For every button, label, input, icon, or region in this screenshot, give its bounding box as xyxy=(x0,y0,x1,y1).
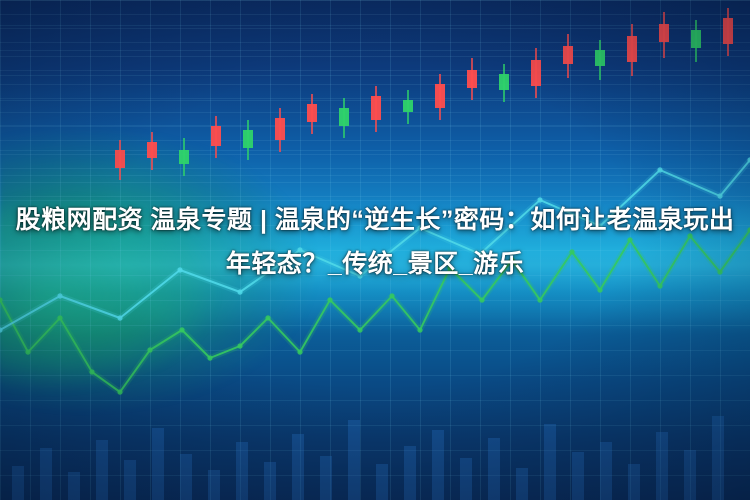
headline-text: 股粮网配资 温泉专题 | 温泉的“逆生长”密码：如何让老温泉玩出年轻态？_传统_… xyxy=(0,198,750,286)
banner-image: 股粮网配资 温泉专题 | 温泉的“逆生长”密码：如何让老温泉玩出年轻态？_传统_… xyxy=(0,0,750,500)
